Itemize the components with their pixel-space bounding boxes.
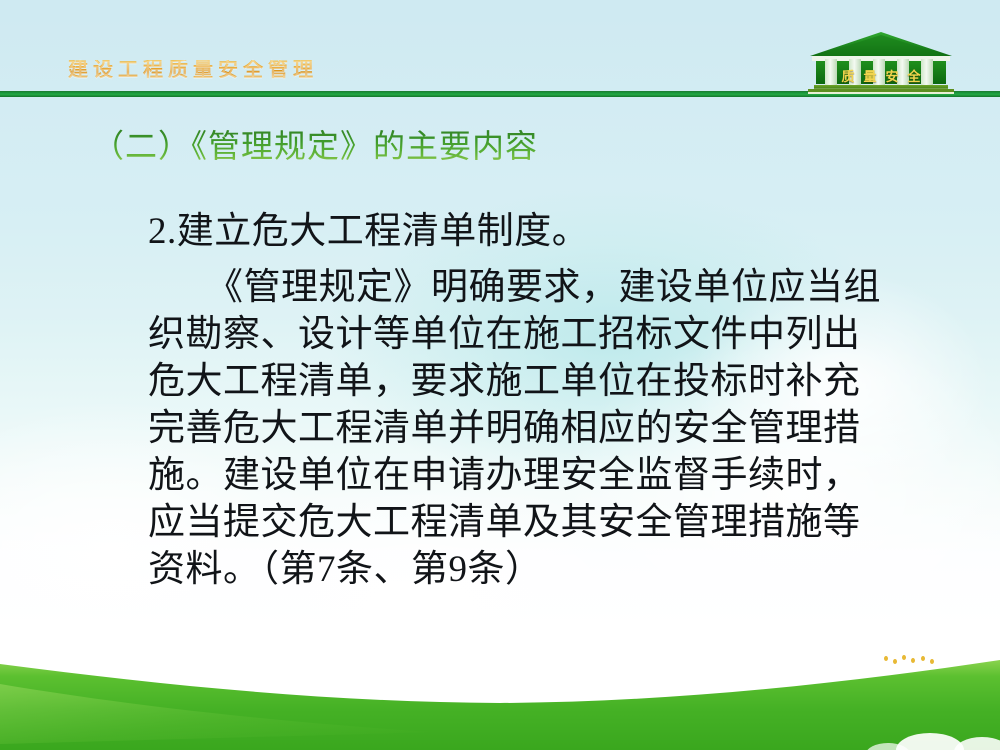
flower-icon <box>884 656 888 661</box>
body-paragraph-line: 应当提交危大工程清单及其安全管理措施等 <box>148 499 938 546</box>
flower-icon <box>911 658 915 663</box>
flower-icon <box>921 656 925 661</box>
quality-safety-temple-logo: 质量安全 <box>806 30 956 96</box>
section-title: （二）《管理规定》的主要内容 <box>92 126 538 166</box>
body-paragraph-line: 织勘察、设计等单位在施工招标文件中列出 <box>148 311 938 358</box>
body-paragraph-line: 危大工程清单，要求施工单位在投标时补充 <box>148 358 938 405</box>
flower-cluster <box>882 655 942 667</box>
body-paragraph-line: 完善危大工程清单并明确相应的安全管理措 <box>148 405 938 452</box>
body-lead-line: 2.建立危大工程清单制度。 <box>148 208 938 255</box>
flower-icon <box>902 655 906 660</box>
body-paragraph-line: 《管理规定》明确要求，建设单位应当组 <box>148 264 938 311</box>
grass-field <box>0 640 1000 750</box>
slide-body: 2.建立危大工程清单制度。 《管理规定》明确要求，建设单位应当组 织勘察、设计等… <box>148 208 938 593</box>
slide-canvas: 建设工程质量安全管理 <box>0 0 1000 750</box>
slide-header: 建设工程质量安全管理 <box>0 0 1000 100</box>
flower-icon <box>893 659 897 664</box>
body-paragraph-line: 资料。（第7条、第9条） <box>148 546 938 593</box>
flower-icon <box>930 659 934 664</box>
body-paragraph-line: 施。建设单位在申请办理安全监督手续时， <box>148 452 938 499</box>
header-title: 建设工程质量安全管理 <box>68 60 318 80</box>
